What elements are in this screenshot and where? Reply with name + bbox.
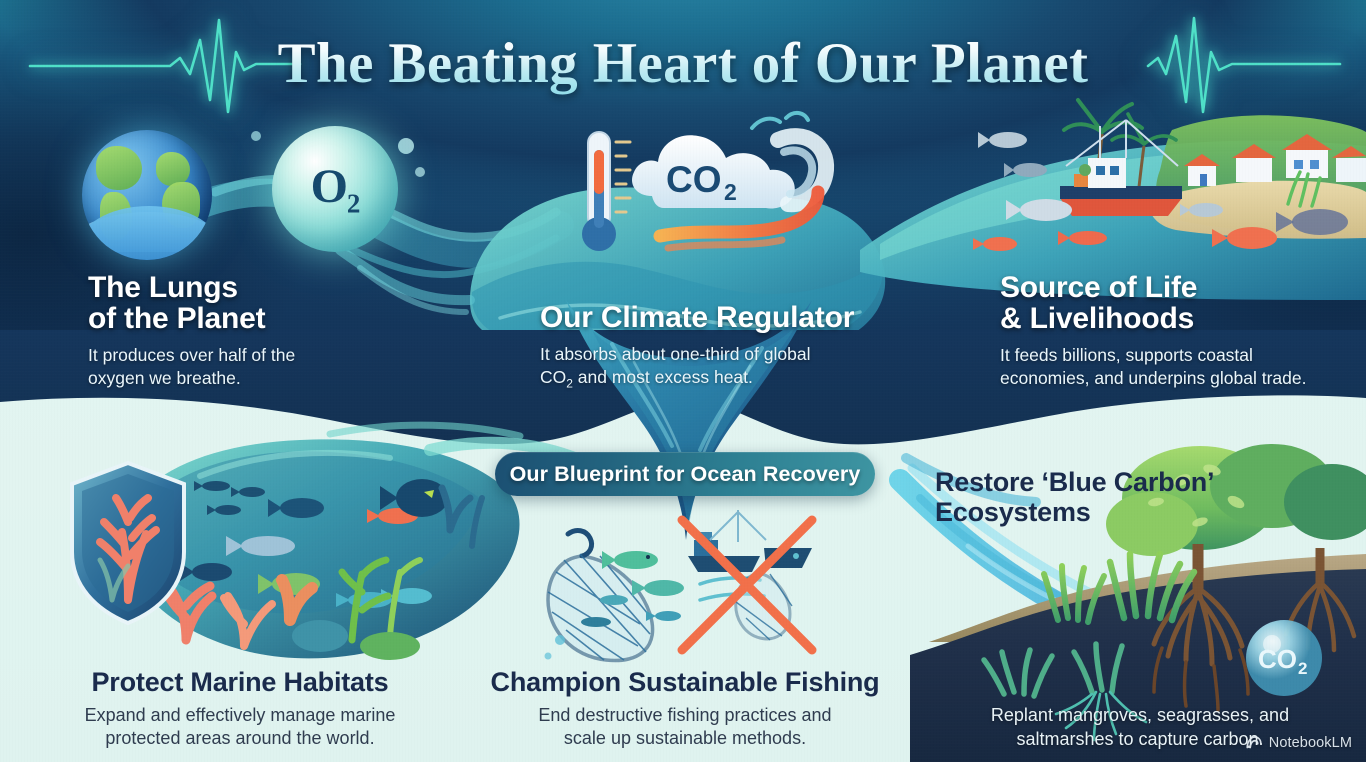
notebooklm-logo-icon — [1245, 734, 1263, 752]
card-climate-co2: CO — [540, 367, 566, 387]
card-fishing: Champion Sustainable Fishing End destruc… — [485, 668, 885, 751]
card-habitats-heading: Protect Marine Habitats — [60, 668, 420, 698]
infographic-poster: CO 2 O2 — [0, 0, 1366, 762]
card-bluecarbon-body-line2: saltmarshes to capture carbon. — [1016, 729, 1263, 749]
earth-globe-icon — [82, 130, 212, 260]
card-bluecarbon-body-line1: Replant mangroves, seagrasses, and — [991, 705, 1289, 725]
o2-bubble-icon: O2 — [272, 126, 398, 252]
card-lungs-body: It produces over half of the oxygen we b… — [88, 344, 378, 390]
card-livelihoods-body-line1: It feeds billions, supports coastal — [1000, 345, 1253, 365]
o2-label: O — [311, 160, 347, 213]
card-habitats: Protect Marine Habitats Expand and effec… — [60, 668, 420, 751]
card-climate-body-line1: It absorbs about one-third of global — [540, 344, 810, 364]
poster-title-row: The Beating Heart of Our Planet — [0, 18, 1366, 108]
card-climate-heading: Our Climate Regulator — [540, 302, 870, 333]
card-habitats-body-line2: protected areas around the world. — [105, 728, 374, 748]
card-bluecarbon-heading-block: Restore ‘Blue Carbon’ Ecosystems — [935, 468, 1265, 527]
card-lungs-heading-line1: The Lungs — [88, 271, 238, 304]
svg-text:CO: CO — [666, 159, 722, 200]
card-fishing-body-line1: End destructive fishing practices and — [538, 705, 831, 725]
card-lungs-body-line2: oxygen we breathe. — [88, 368, 241, 388]
card-climate: Our Climate Regulator It absorbs about o… — [540, 302, 870, 393]
svg-text:CO: CO — [1258, 644, 1297, 674]
card-lungs-body-line1: It produces over half of the — [88, 345, 295, 365]
card-fishing-heading: Champion Sustainable Fishing — [485, 668, 885, 698]
card-fishing-body: End destructive fishing practices and sc… — [485, 704, 885, 752]
card-climate-body-line2-post: and most excess heat. — [573, 367, 753, 387]
card-livelihoods: Source of Life & Livelihoods It feeds bi… — [1000, 272, 1340, 391]
co2-bubble-icon: CO 2 — [1246, 620, 1322, 696]
card-livelihoods-heading: Source of Life & Livelihoods — [1000, 272, 1340, 334]
svg-text:2: 2 — [724, 179, 737, 205]
card-bluecarbon-heading-line1: Restore ‘Blue Carbon’ — [935, 467, 1214, 497]
card-lungs: The Lungs of the Planet It produces over… — [88, 272, 378, 391]
card-climate-body: It absorbs about one-third of global CO2… — [540, 343, 870, 392]
card-bluecarbon-heading: Restore ‘Blue Carbon’ Ecosystems — [935, 468, 1265, 527]
card-livelihoods-body-line2: economies, and underpins global trade. — [1000, 368, 1306, 388]
co2-cloud-icon: CO 2 — [632, 135, 795, 208]
card-livelihoods-heading-line1: Source of Life — [1000, 271, 1197, 304]
card-livelihoods-body: It feeds billions, supports coastal econ… — [1000, 344, 1340, 390]
card-habitats-body-line1: Expand and effectively manage marine — [85, 705, 396, 725]
card-bluecarbon-heading-line2: Ecosystems — [935, 497, 1091, 527]
card-lungs-heading-line2: of the Planet — [88, 302, 265, 335]
card-livelihoods-heading-line2: & Livelihoods — [1000, 302, 1194, 335]
blueprint-badge[interactable]: Our Blueprint for Ocean Recovery — [495, 452, 875, 496]
page-title: The Beating Heart of Our Planet — [278, 31, 1089, 96]
card-habitats-body: Expand and effectively manage marine pro… — [60, 704, 420, 752]
shield-coral-icon — [66, 460, 190, 626]
watermark: NotebookLM — [1245, 734, 1352, 752]
o2-subscript: 2 — [347, 188, 360, 218]
card-climate-co2-sub: 2 — [566, 377, 573, 391]
svg-text:2: 2 — [1298, 659, 1307, 678]
card-lungs-heading: The Lungs of the Planet — [88, 272, 378, 334]
watermark-label: NotebookLM — [1269, 735, 1352, 751]
card-fishing-body-line2: scale up sustainable methods. — [564, 728, 806, 748]
blueprint-badge-label: Our Blueprint for Ocean Recovery — [510, 462, 861, 487]
